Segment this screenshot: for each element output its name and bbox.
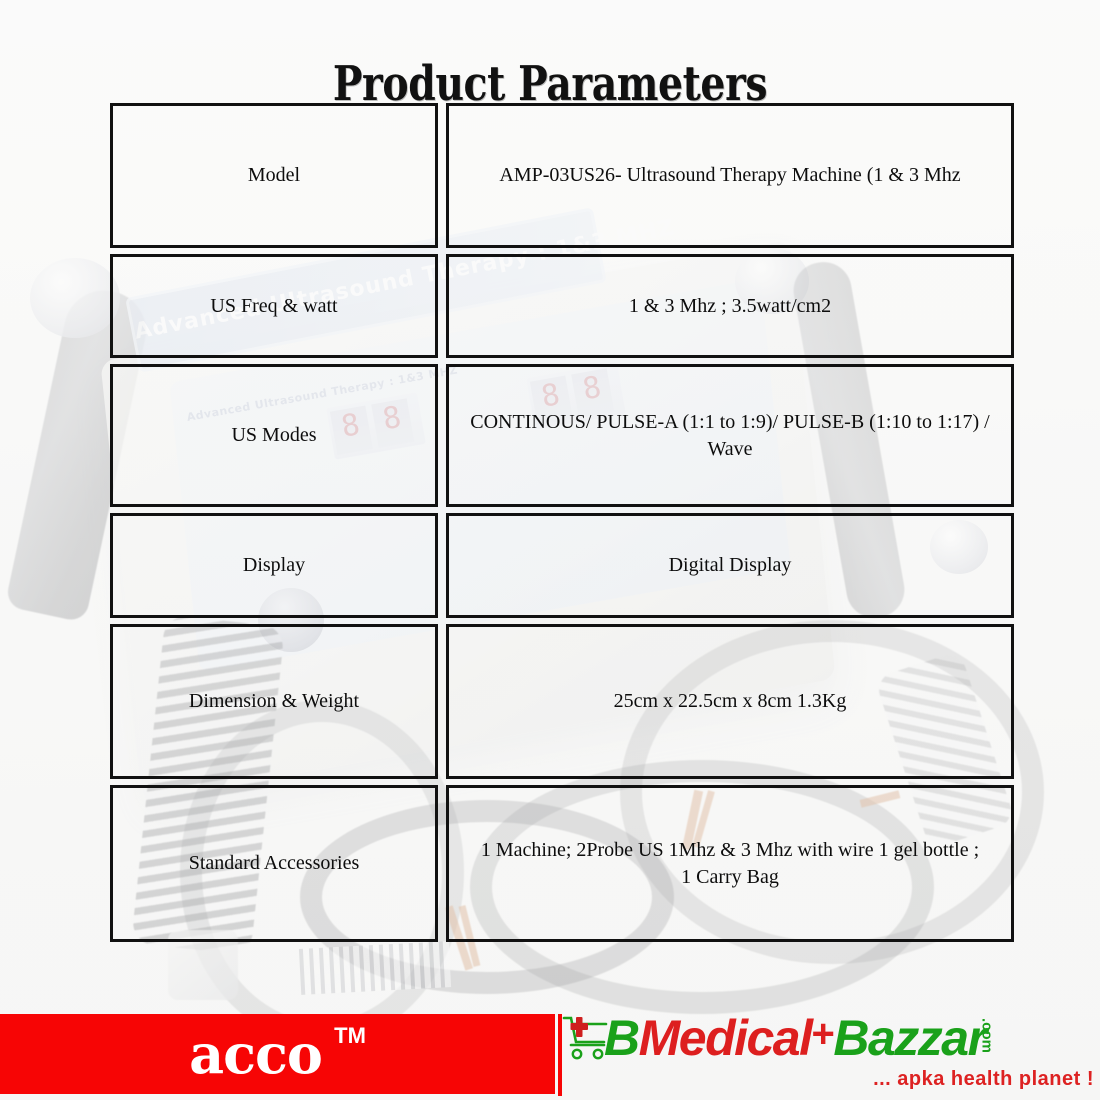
parameter-label: US Modes [231, 422, 316, 448]
parameter-value: CONTINOUS/ PULSE-A (1:1 to 1:9)/ PULSE-B… [465, 409, 995, 462]
parameter-value: 1 Machine; 2Probe US 1Mhz & 3 Mhz with w… [475, 837, 985, 890]
parameter-label: US Freq & watt [210, 293, 337, 319]
logo-word-bazzar: Bazzar [833, 1012, 985, 1064]
table-row: Model AMP-03US26- Ultrasound Therapy Mac… [110, 103, 1014, 248]
table-cell-value: 1 Machine; 2Probe US 1Mhz & 3 Mhz with w… [446, 785, 1014, 942]
table-cell-label: Dimension & Weight [110, 624, 438, 779]
acco-wordmark: acco TM [189, 1027, 366, 1081]
table-cell-value: 1 & 3 Mhz ; 3.5watt/cm2 [446, 254, 1014, 358]
table-cell-label: Display [110, 513, 438, 618]
table-cell-label: US Modes [110, 364, 438, 507]
parameter-label: Dimension & Weight [189, 688, 359, 714]
parameter-label: Standard Accessories [189, 850, 360, 876]
acco-brand-banner[interactable]: acco TM [0, 1014, 555, 1094]
table-cell-value: AMP-03US26- Ultrasound Therapy Machine (… [446, 103, 1014, 248]
table-cell-label: US Freq & watt [110, 254, 438, 358]
table-cell-value: 25cm x 22.5cm x 8cm 1.3Kg [446, 624, 1014, 779]
shopping-cart-icon [562, 1012, 608, 1062]
table-cell-value: CONTINOUS/ PULSE-A (1:1 to 1:9)/ PULSE-B… [446, 364, 1014, 507]
footer-branding-bar: acco TM [0, 1008, 1100, 1100]
table-cell-label: Model [110, 103, 438, 248]
table-row: US Modes CONTINOUS/ PULSE-A (1:1 to 1:9)… [110, 364, 1014, 507]
table-row: US Freq & watt 1 & 3 Mhz ; 3.5watt/cm2 [110, 254, 1014, 358]
product-parameters-table: Model AMP-03US26- Ultrasound Therapy Mac… [110, 103, 1014, 948]
table-row: Display Digital Display [110, 513, 1014, 618]
page-title: Product Parameters [99, 56, 1001, 112]
acco-wordmark-text: acco [189, 1022, 322, 1086]
trademark-symbol: TM [334, 1025, 366, 1047]
medical-cross-icon: + [812, 1008, 834, 1060]
medical-bazzar-logo[interactable]: B Medical + Bazzar .com ... apka health … [562, 1010, 1100, 1100]
parameter-label: Display [243, 552, 305, 578]
parameter-value: 1 & 3 Mhz ; 3.5watt/cm2 [629, 293, 831, 319]
table-row: Standard Accessories 1 Machine; 2Probe U… [110, 785, 1014, 942]
logo-letter-b: B [604, 1012, 639, 1064]
medical-bazzar-wordmark: B Medical + Bazzar .com [562, 1012, 995, 1068]
parameter-label: Model [248, 162, 300, 188]
parameter-value: 25cm x 22.5cm x 8cm 1.3Kg [614, 688, 847, 714]
table-cell-value: Digital Display [446, 513, 1014, 618]
table-cell-label: Standard Accessories [110, 785, 438, 942]
parameter-value: Digital Display [669, 552, 792, 578]
parameter-value: AMP-03US26- Ultrasound Therapy Machine (… [499, 162, 960, 188]
logo-dotcom: .com [980, 1018, 995, 1053]
logo-word-medical: Medical [639, 1012, 812, 1064]
logo-tagline: ... apka health planet ! [873, 1068, 1094, 1091]
table-row: Dimension & Weight 25cm x 22.5cm x 8cm 1… [110, 624, 1014, 779]
